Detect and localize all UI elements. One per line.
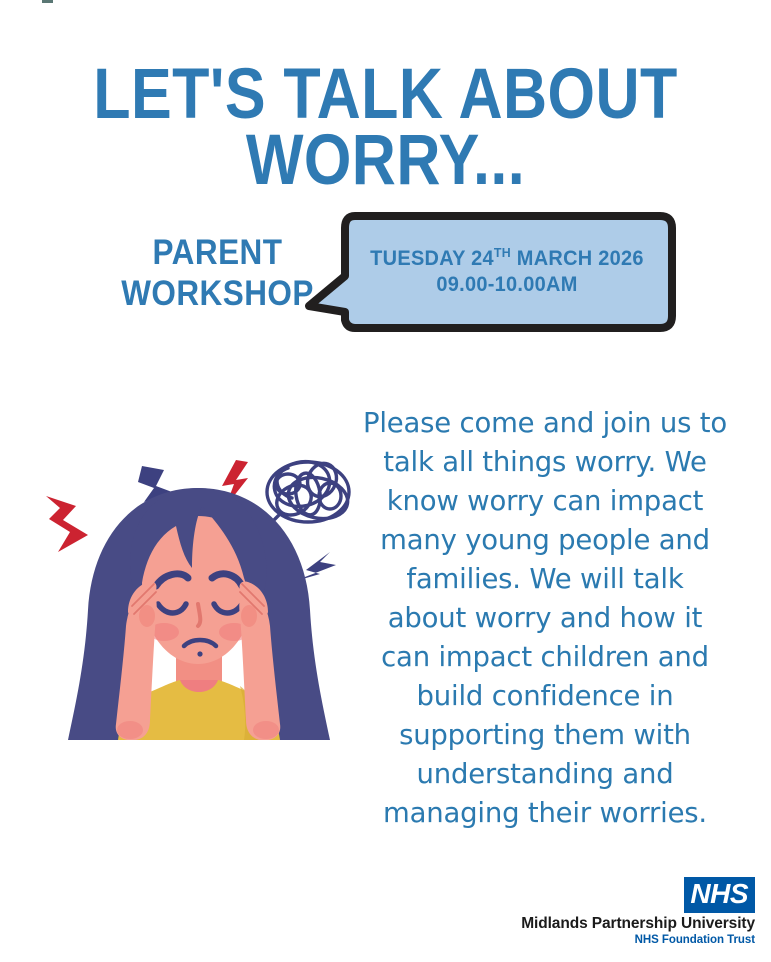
lightning-bolt-red-left xyxy=(46,496,88,552)
workshop-type-label: PARENT WORKSHOP xyxy=(121,232,315,315)
chin-dot xyxy=(197,651,202,656)
elbow-shadow-left xyxy=(117,721,143,739)
schedule-date-ordinal: TH xyxy=(494,245,511,260)
nhs-logo: NHS Midlands Partnership University NHS … xyxy=(521,877,755,948)
ear-right xyxy=(241,605,257,627)
illustration-bottom-mask xyxy=(30,740,366,780)
page-title: LET'S TALK ABOUT WORRY... xyxy=(54,62,717,194)
poster-canvas: LET'S TALK ABOUT WORRY... PARENT WORKSHO… xyxy=(0,0,771,962)
schedule-speech-bubble: TUESDAY 24TH MARCH 2026 09.00-10.00AM xyxy=(303,212,678,337)
schedule-text: TUESDAY 24TH MARCH 2026 09.00-10.00AM xyxy=(357,246,657,297)
schedule-time: 09.00-10.00AM xyxy=(436,273,577,296)
crop-artifact xyxy=(42,0,53,3)
ear-left xyxy=(139,605,155,627)
trust-name: Midlands Partnership University xyxy=(521,915,755,933)
trust-subtitle: NHS Foundation Trust xyxy=(521,933,755,948)
elbow-shadow-right xyxy=(253,721,279,739)
schedule-date-suffix: MARCH 2026 xyxy=(511,247,644,270)
nhs-wordmark: NHS xyxy=(684,877,755,913)
worried-girl-illustration xyxy=(30,440,366,780)
schedule-date-prefix: TUESDAY 24 xyxy=(370,247,494,270)
nose xyxy=(198,604,200,626)
body-description-text: Please come and join us to talk all thin… xyxy=(345,404,745,834)
